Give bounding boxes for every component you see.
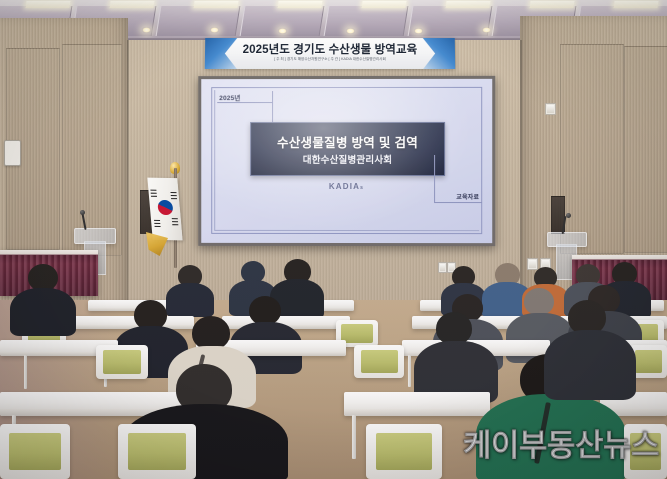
ceiling-light-strip <box>109 1 154 8</box>
slide-rule-vertical <box>434 155 435 203</box>
trigram-bar <box>172 224 178 225</box>
person-body <box>10 288 76 336</box>
wall-panel-door[interactable] <box>560 44 624 254</box>
ceiling-light-strip <box>193 1 238 8</box>
ceiling-light-strip <box>25 1 70 8</box>
chair-cushion <box>635 350 662 372</box>
trigram-bar <box>154 223 160 224</box>
taegeuk-symbol-icon <box>157 200 173 215</box>
watermark: 케이부동산뉴스 <box>463 420 659 465</box>
table-edge <box>62 325 194 329</box>
trigram-bar <box>151 193 157 194</box>
ceiling-light-strip <box>529 1 574 8</box>
ceiling-light-strip <box>613 1 658 8</box>
downlight-icon <box>482 27 491 33</box>
chair-cushion <box>128 433 186 470</box>
trigram-bar <box>150 190 156 191</box>
downlight-icon <box>414 28 423 34</box>
trigram-bar <box>172 221 178 222</box>
person-body <box>166 283 214 317</box>
downlight-icon <box>210 27 219 33</box>
chair-cushion <box>9 433 61 470</box>
downlight-icon <box>278 28 287 34</box>
chair[interactable] <box>96 345 148 379</box>
microphone-head-icon <box>566 213 571 218</box>
microphone-head-icon <box>80 210 85 215</box>
kadia-logo-text: KADIA <box>329 182 360 191</box>
ceiling-light-strip <box>277 1 322 8</box>
power-outlet[interactable] <box>527 258 538 270</box>
slide-edu-label: 교육자료 <box>456 192 479 201</box>
chair[interactable] <box>366 424 442 479</box>
power-outlet[interactable] <box>438 262 447 273</box>
downlight-icon <box>346 28 355 34</box>
trigram-bar <box>171 195 177 196</box>
kadia-logo: KADIAs <box>201 182 492 191</box>
projection-screen: 2025년 수산생물질병 방역 및 검역 대한수산질병관리사회 KADIAs 교… <box>198 76 495 246</box>
table-leg <box>408 355 411 387</box>
chair-cushion <box>341 324 372 342</box>
banner-title: 2025년도 경기도 수산생물 방역교육 <box>205 41 455 57</box>
trigram-bar <box>154 220 160 221</box>
slide-year-label: 2025년 <box>219 92 240 102</box>
trigram-bar <box>155 226 161 227</box>
seminar-room-photograph: 2025년도 경기도 수산생물 방역교육 [ 주 최 ] 경기도 해양수산자원연… <box>0 0 667 479</box>
trigram-bar <box>171 198 177 199</box>
table-leg <box>24 355 27 389</box>
table-row <box>344 392 490 416</box>
table-edge <box>344 409 490 416</box>
wall-seam <box>127 40 129 310</box>
light-switch-plate[interactable] <box>545 103 556 115</box>
trigram-bar <box>170 192 176 193</box>
person-head <box>28 264 58 291</box>
wall-panel-door[interactable] <box>62 44 122 256</box>
chair[interactable] <box>0 424 70 479</box>
wall-seam <box>520 40 522 310</box>
slide-rule-horizontal <box>217 102 272 103</box>
trigram-bar <box>172 218 178 219</box>
ceiling-light-strip <box>361 1 406 8</box>
wall-mounted-box <box>4 140 21 166</box>
event-banner: 2025년도 경기도 수산생물 방역교육 [ 주 최 ] 경기도 해양수산자원연… <box>205 38 455 69</box>
kadia-logo-tail: s <box>360 185 364 191</box>
chair[interactable] <box>118 424 196 479</box>
person-head <box>249 296 281 325</box>
slide-rule-horizontal <box>434 202 482 203</box>
chair[interactable] <box>354 345 404 378</box>
projected-slide: 2025년 수산생물질병 방역 및 검역 대한수산질병관리사회 KADIAs 교… <box>201 79 492 243</box>
trigram-bar <box>151 196 157 197</box>
slide-title-main: 수산생물질병 방역 및 검역 <box>251 132 444 151</box>
table-leg <box>352 415 356 459</box>
chair-cushion <box>376 433 432 470</box>
table-row <box>62 316 194 329</box>
person-body <box>544 330 636 400</box>
downlight-icon <box>142 27 151 33</box>
banner-subtitle: [ 주 최 ] 경기도 해양수산자원연구소 [ 주 관 ] KADIA 대한수산… <box>205 57 455 62</box>
taegeukgi-flag <box>147 178 182 241</box>
slide-title-sub: 대한수산질병관리사회 <box>251 152 444 166</box>
wall-panel-door[interactable] <box>624 46 667 253</box>
ceiling-light-strip <box>445 1 490 8</box>
person-head-grey <box>524 288 554 315</box>
person-head <box>192 316 230 350</box>
chair-cushion <box>361 350 398 372</box>
slide-title-box: 수산생물질병 방역 및 검역 대한수산질병관리사회 <box>250 122 445 176</box>
ceiling-panel <box>156 6 241 36</box>
chair-cushion <box>103 350 142 373</box>
ceiling-panel <box>324 6 409 36</box>
